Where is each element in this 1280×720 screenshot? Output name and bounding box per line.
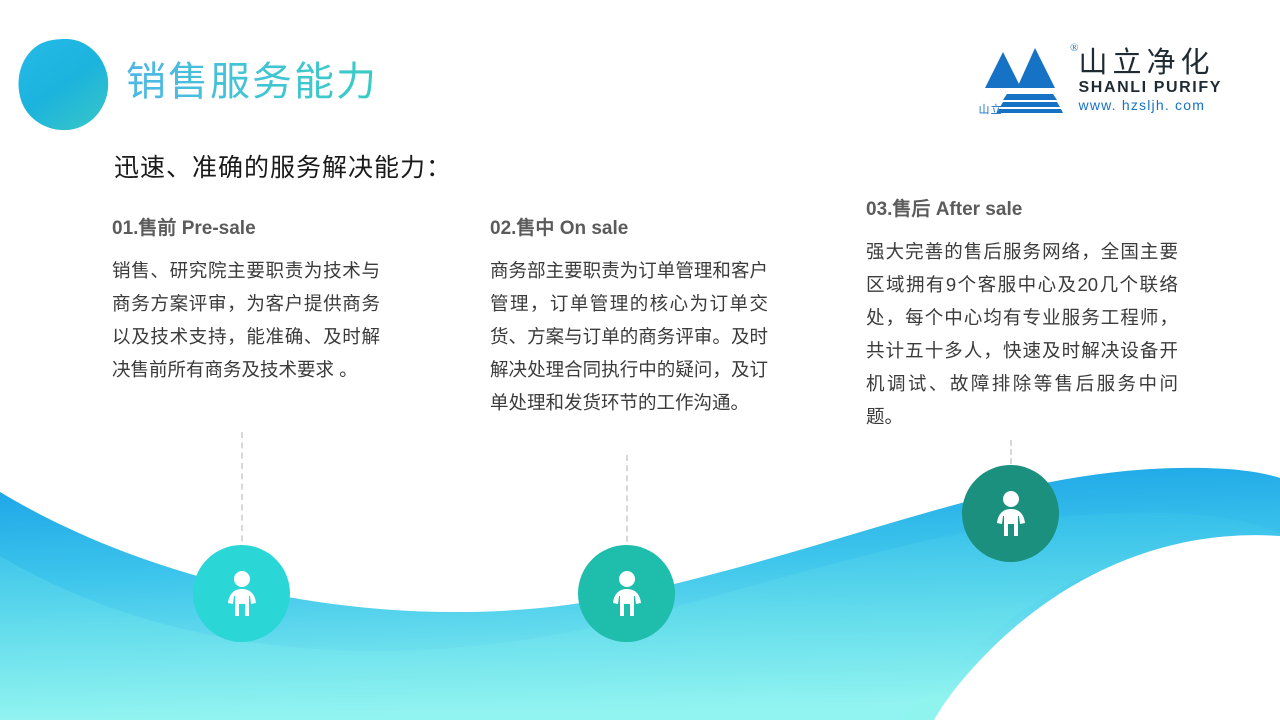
- slide-canvas: 销售服务能力 ® 山立 山立净化 SHANLI PURIFY www. hzsl…: [0, 0, 1280, 720]
- column-body-onsale: 商务部主要职责为订单管理和客户管理，订单管理的核心为订单交货、方案与订单的商务评…: [490, 255, 768, 420]
- logo-mark-label: 山立: [979, 101, 1003, 117]
- person-icon: [994, 490, 1028, 538]
- step-marker-onsale: [578, 545, 675, 642]
- column-heading-onsale: 02.售中 On sale: [490, 213, 768, 240]
- company-logo: ® 山立 山立净化 SHANLI PURIFY www. hzsljh. com: [977, 40, 1222, 114]
- header-blob-decoration: [14, 36, 112, 132]
- column-heading-presale: 01.售前 Pre-sale: [112, 213, 380, 240]
- connector-line-1: [241, 432, 243, 562]
- column-heading-aftersale: 03.售后 After sale: [866, 194, 1178, 221]
- step-marker-aftersale: [962, 465, 1059, 562]
- page-title: 销售服务能力: [126, 58, 378, 106]
- content-column-onsale: 02.售中 On sale 商务部主要职责为订单管理和客户管理，订单管理的核心为…: [490, 213, 768, 420]
- logo-name-cn: 山立净化: [1079, 48, 1222, 78]
- logo-name-en: SHANLI PURIFY: [1079, 79, 1222, 97]
- registered-trademark-icon: ®: [1070, 42, 1078, 54]
- column-body-aftersale: 强大完善的售后服务网络，全国主要区域拥有9个客服中心及20几个联络处，每个中心均…: [866, 236, 1178, 434]
- column-body-presale: 销售、研究院主要职责为技术与商务方案评审，为客户提供商务以及技术支持，能准确、及…: [112, 255, 380, 387]
- logo-website: www. hzsljh. com: [1079, 98, 1222, 113]
- logo-text-block: 山立净化 SHANLI PURIFY www. hzsljh. com: [1079, 40, 1222, 113]
- step-marker-presale: [193, 545, 290, 642]
- content-column-presale: 01.售前 Pre-sale 销售、研究院主要职责为技术与商务方案评审，为客户提…: [112, 213, 380, 387]
- content-column-aftersale: 03.售后 After sale 强大完善的售后服务网络，全国主要区域拥有9个客…: [866, 194, 1178, 434]
- person-icon: [225, 570, 259, 618]
- wave-white-cutout: [934, 535, 1280, 720]
- logo-mountain-mark: ® 山立: [977, 40, 1073, 114]
- person-icon: [610, 570, 644, 618]
- section-subtitle: 迅速、准确的服务解决能力：: [114, 148, 452, 184]
